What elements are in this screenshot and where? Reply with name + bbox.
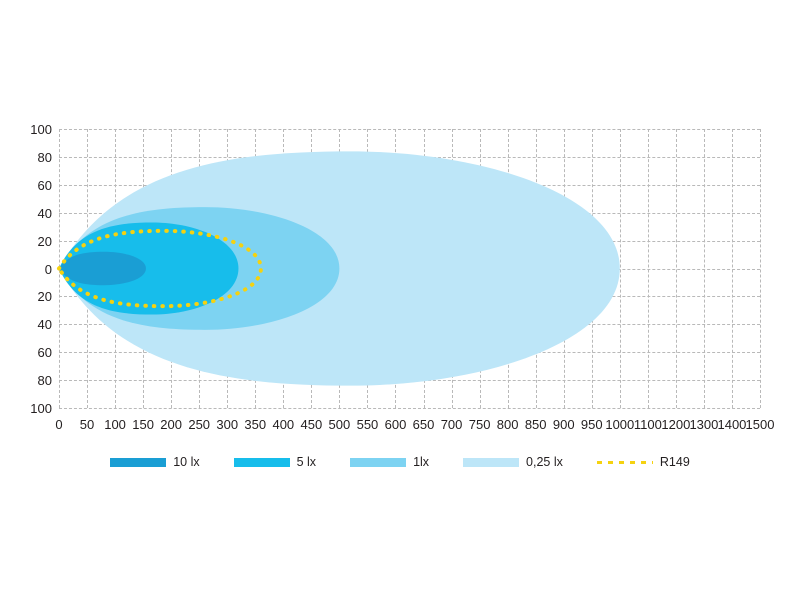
x-axis-tick-label: 350 — [244, 418, 266, 431]
x-axis-tick-label: 100 — [104, 418, 126, 431]
y-axis-labels: 10080604020020406080100 — [0, 0, 52, 600]
legend-item[interactable]: R149 — [597, 456, 690, 469]
x-axis-tick-label: 700 — [441, 418, 463, 431]
plot-area — [59, 129, 760, 408]
x-axis-tick-label: 800 — [497, 418, 519, 431]
x-axis-tick-label: 1500 — [746, 418, 775, 431]
grid-line-horizontal — [59, 408, 760, 410]
legend-item[interactable]: 10 lx — [110, 456, 199, 469]
light-distribution-chart: 10080604020020406080100 0501001502002503… — [0, 0, 800, 600]
x-axis-tick-label: 1100 — [634, 418, 662, 431]
legend-item-label: 5 lx — [297, 456, 316, 469]
x-axis-tick-label: 200 — [160, 418, 182, 431]
x-axis-tick-label: 950 — [581, 418, 603, 431]
legend-color-swatch — [463, 458, 519, 467]
x-axis-tick-label: 1000 — [605, 418, 634, 431]
y-axis-tick-label: 80 — [6, 374, 52, 387]
legend-dotted-line-icon — [597, 458, 653, 467]
x-axis-tick-label: 900 — [553, 418, 575, 431]
y-axis-tick-label: 100 — [6, 123, 52, 136]
legend-color-swatch — [234, 458, 290, 467]
x-axis-tick-label: 400 — [272, 418, 294, 431]
x-axis-tick-label: 150 — [132, 418, 154, 431]
x-axis-tick-label: 500 — [329, 418, 351, 431]
y-axis-tick-label: 40 — [6, 207, 52, 220]
x-axis-labels: 0501001502002503003504004505005506006507… — [0, 418, 800, 438]
y-axis-tick-label: 0 — [6, 263, 52, 276]
x-axis-tick-label: 0 — [55, 418, 62, 431]
x-axis-tick-label: 50 — [80, 418, 94, 431]
y-axis-tick-label: 20 — [6, 290, 52, 303]
x-axis-tick-label: 750 — [469, 418, 491, 431]
y-axis-tick-label: 60 — [6, 179, 52, 192]
legend-item-label: 10 lx — [173, 456, 199, 469]
x-axis-tick-label: 1200 — [661, 418, 690, 431]
x-axis-tick-label: 300 — [216, 418, 238, 431]
grid-line-vertical — [760, 129, 762, 408]
legend-color-swatch — [350, 458, 406, 467]
y-axis-tick-label: 20 — [6, 235, 52, 248]
y-axis-tick-label: 40 — [6, 318, 52, 331]
x-axis-tick-label: 850 — [525, 418, 547, 431]
x-axis-tick-label: 550 — [357, 418, 379, 431]
legend-item-label: R149 — [660, 456, 690, 469]
legend-item-label: 0,25 lx — [526, 456, 563, 469]
light-cones — [59, 129, 760, 408]
legend-color-swatch — [110, 458, 166, 467]
legend-item[interactable]: 1lx — [350, 456, 429, 469]
legend-item[interactable]: 0,25 lx — [463, 456, 563, 469]
x-axis-tick-label: 250 — [188, 418, 210, 431]
legend-item-label: 1lx — [413, 456, 429, 469]
y-axis-tick-label: 80 — [6, 151, 52, 164]
y-axis-tick-label: 100 — [6, 402, 52, 415]
x-axis-tick-label: 650 — [413, 418, 435, 431]
x-axis-tick-label: 1400 — [717, 418, 746, 431]
x-axis-tick-label: 600 — [385, 418, 407, 431]
y-axis-tick-label: 60 — [6, 346, 52, 359]
legend-item[interactable]: 5 lx — [234, 456, 316, 469]
chart-legend: 10 lx5 lx1lx0,25 lxR149 — [0, 450, 800, 474]
x-axis-tick-label: 1300 — [689, 418, 718, 431]
x-axis-tick-label: 450 — [301, 418, 323, 431]
